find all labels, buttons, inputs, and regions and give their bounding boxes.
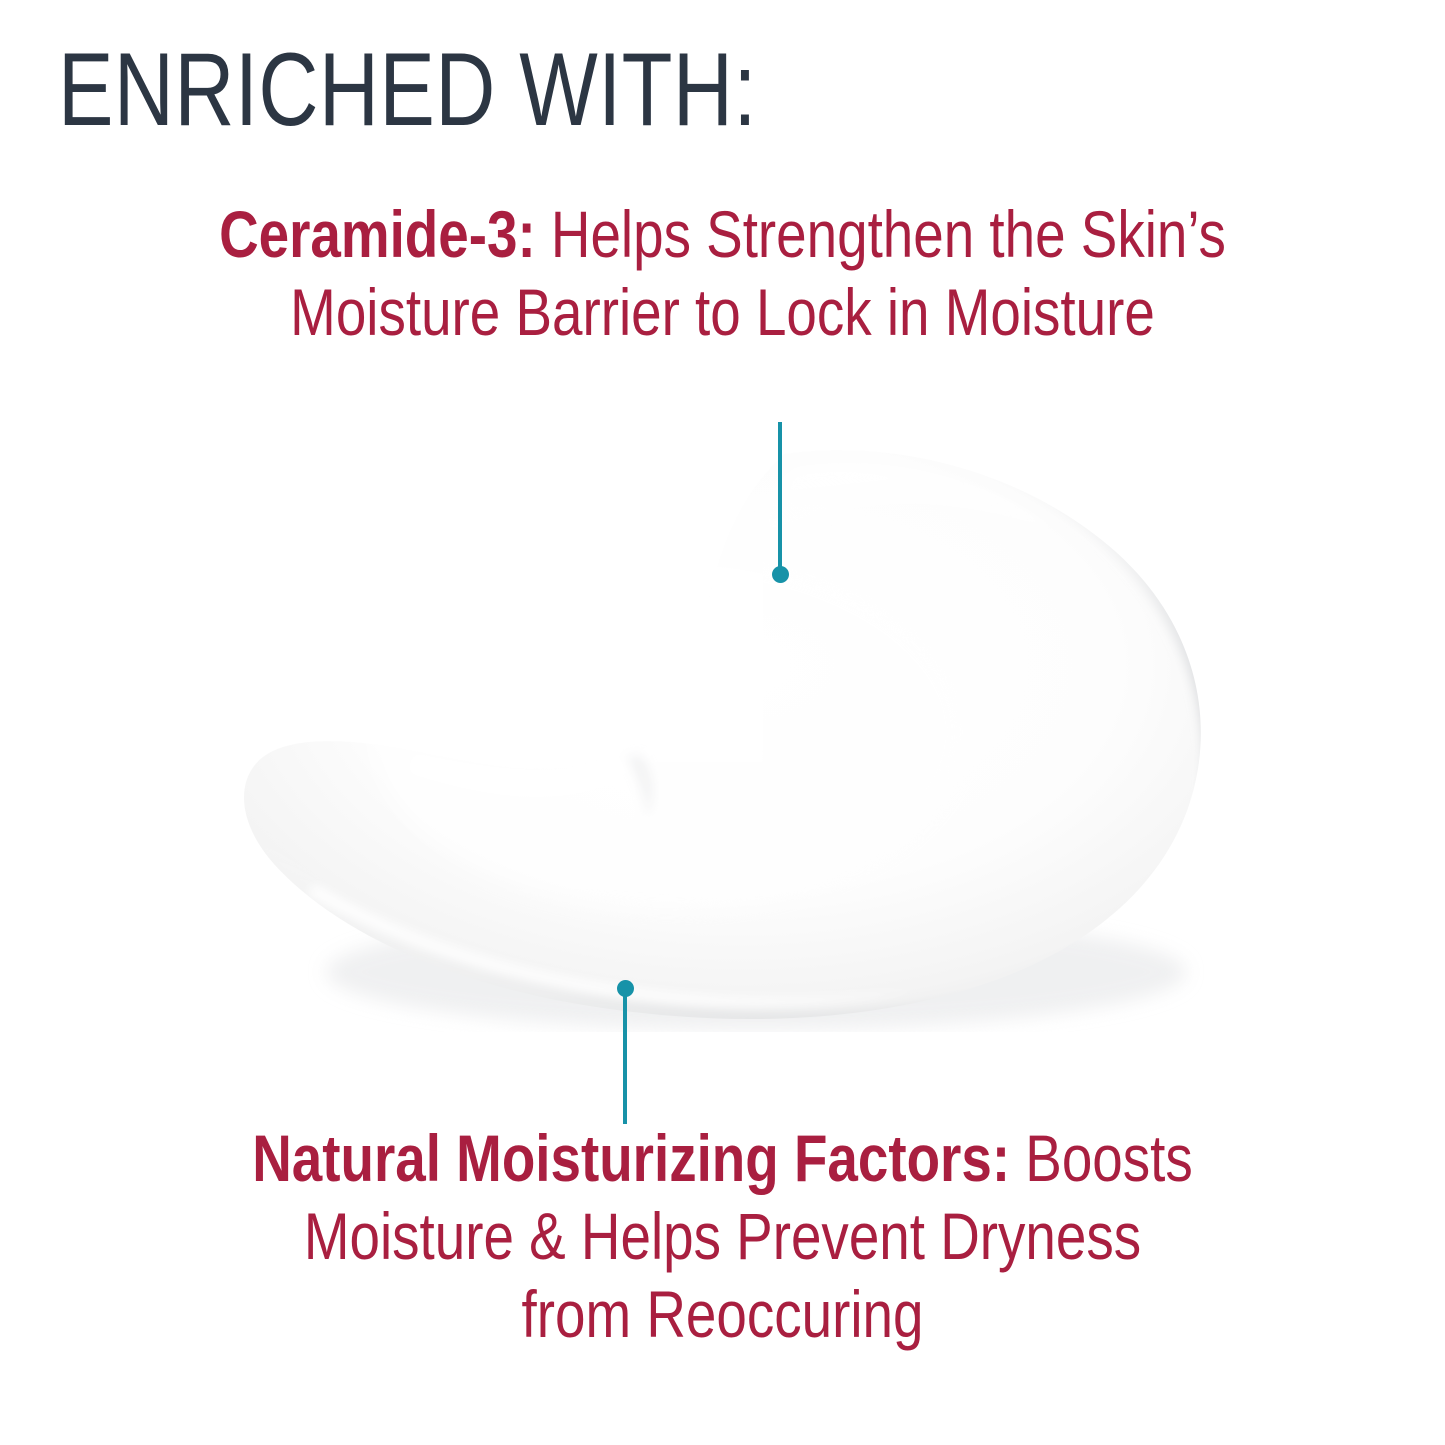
cream-center-sheen	[366, 552, 966, 912]
callout-dot	[617, 980, 634, 997]
cream-shade-bottom	[236, 812, 1216, 1032]
benefit-line: Moisture Barrier to Lock in Moisture	[123, 274, 1322, 352]
cream-shade-right	[836, 432, 1216, 1032]
benefit-text: Moisture & Helps Prevent Dryness	[304, 1199, 1141, 1273]
benefit-ingredient-name: Natural Moisturizing Factors:	[252, 1121, 1010, 1195]
benefit-line: Ceramide-3: Helps Strengthen the Skin’s	[123, 196, 1322, 274]
cream-rim-light	[306, 884, 926, 1005]
cream-shadow	[326, 914, 1186, 1030]
callout-line	[623, 988, 627, 1124]
benefit-line: from Reoccuring	[123, 1276, 1322, 1354]
benefit-natural-moisturizing-factors: Natural Moisturizing Factors: Boosts Moi…	[0, 1120, 1445, 1354]
benefit-line: Natural Moisturizing Factors: Boosts	[123, 1120, 1322, 1198]
promo-graphic: ENRICHED WITH:	[0, 0, 1445, 1445]
cream-fold-highlight	[408, 676, 700, 796]
callout-line	[778, 422, 782, 574]
page-title: ENRICHED WITH:	[58, 38, 1122, 142]
cream-swatch-image	[236, 432, 1216, 1032]
callout-dot	[772, 566, 789, 583]
cream-highlight-top	[752, 466, 1084, 584]
benefit-line: Moisture & Helps Prevent Dryness	[123, 1198, 1322, 1276]
benefit-ingredient-name: Ceramide-3:	[219, 197, 536, 271]
benefit-text: Moisture Barrier to Lock in Moisture	[290, 275, 1155, 349]
benefit-text: Helps Strengthen the Skin’s	[536, 197, 1226, 271]
benefit-text: Boosts	[1010, 1121, 1193, 1195]
cream-body	[244, 450, 1201, 1019]
benefit-ceramide-3: Ceramide-3: Helps Strengthen the Skin’s …	[0, 196, 1445, 352]
cream-crease	[626, 754, 653, 816]
benefit-text: from Reoccuring	[522, 1277, 924, 1351]
